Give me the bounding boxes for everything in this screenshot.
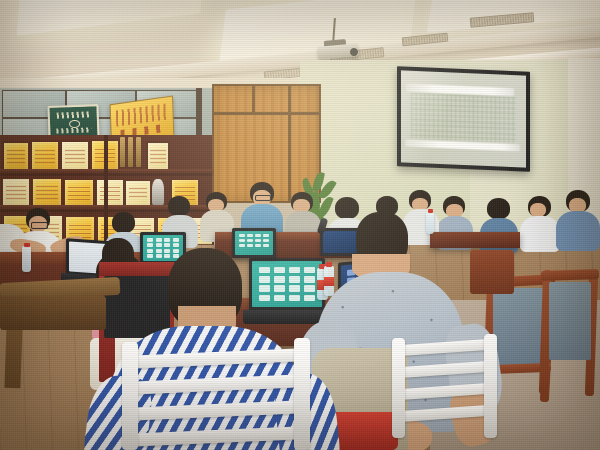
ceiling-light-panel-1 <box>17 0 205 36</box>
award-plaque <box>146 141 170 172</box>
water-bottle[interactable] <box>324 266 334 296</box>
water-bottle[interactable] <box>426 212 434 234</box>
bottle-cap <box>24 243 30 247</box>
screen-tile-grid <box>147 238 179 258</box>
trophy-cup-icon <box>152 179 164 205</box>
projection-screen-surface <box>401 70 526 167</box>
wood-panel-divider <box>252 86 255 112</box>
chair-left-seat[interactable] <box>0 296 106 330</box>
certificate-text <box>56 127 92 133</box>
projection-screen <box>397 66 530 172</box>
wood-panel-divider <box>288 86 291 201</box>
laptop-screen[interactable] <box>252 261 322 307</box>
bottle-label <box>324 277 334 286</box>
photo-scene <box>0 0 600 450</box>
screen-reflection-sheen <box>401 70 526 167</box>
chair-back-right[interactable] <box>470 250 514 294</box>
glasses-icon <box>31 222 48 229</box>
trophy-icon <box>120 137 125 167</box>
laptop-screen[interactable] <box>323 231 357 253</box>
bottle-cap <box>428 209 433 213</box>
red-chair-top-rail[interactable] <box>99 262 175 276</box>
screen-tile-grid <box>259 267 315 302</box>
meeting-table-right <box>430 232 520 248</box>
glasses-icon <box>255 195 271 201</box>
water-bottle[interactable] <box>22 246 31 272</box>
trophy-icon <box>128 137 133 167</box>
trophy-icon <box>136 137 141 167</box>
laptop-screen[interactable] <box>143 235 183 261</box>
certificate-text <box>56 111 90 119</box>
wood-panel-divider <box>214 112 319 115</box>
bottle-cap <box>326 262 332 267</box>
laptop-screen[interactable] <box>235 231 273 255</box>
screen-tile-grid <box>239 234 269 252</box>
certificate-text <box>116 103 168 126</box>
